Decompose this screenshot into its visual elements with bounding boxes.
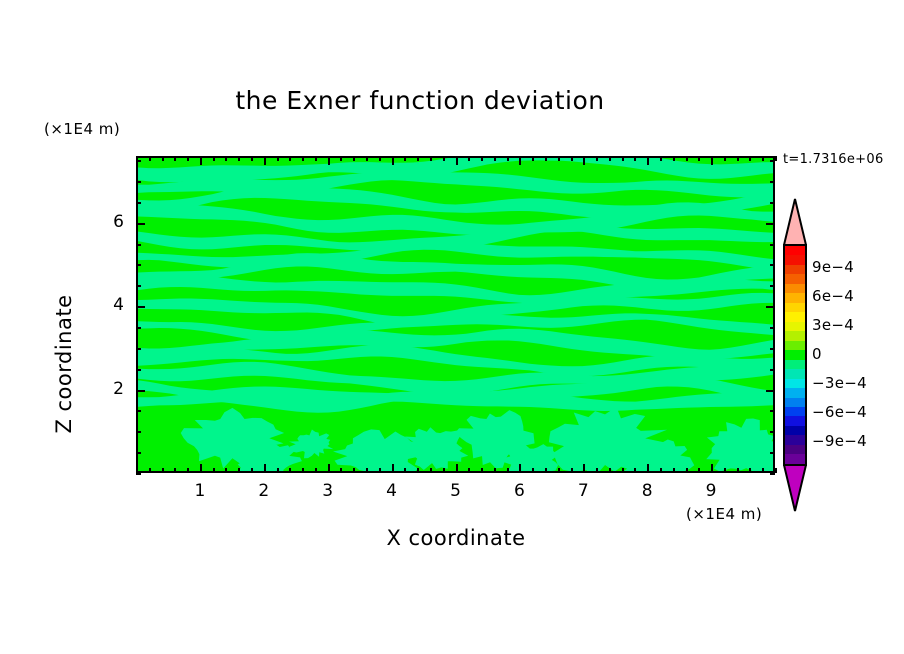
colorbar-under-arrow-icon [783,464,807,512]
colorbar-segment [785,322,805,331]
colorbar-segment [785,445,805,454]
x-tick-label: 5 [436,481,476,501]
colorbar-tick-label: 0 [812,345,822,363]
colorbar-tick-label: −9e−4 [812,432,867,450]
x-tick-label: 4 [372,481,412,501]
x-axis-unit-label: (×1E4 m) [686,505,762,523]
colorbar-tick-label: −6e−4 [812,403,867,421]
colorbar-tick-label: 3e−4 [812,316,854,334]
x-tick-label: 8 [627,481,667,501]
colorbar-over-arrow-icon [783,198,807,246]
colorbar-tick-label: 9e−4 [812,258,854,276]
y-tick-label: 6 [84,212,124,232]
time-annotation: t=1.7316e+06 [783,152,884,167]
colorbar-segments[interactable] [783,244,807,466]
page-title: the Exner function deviation [0,86,840,115]
colorbar-segment [785,407,805,416]
colorbar-segment [785,360,805,369]
colorbar[interactable]: 9e−46e−43e−40−3e−4−6e−4−9e−4 [778,198,814,514]
x-tick [775,156,777,161]
colorbar-segment [785,369,805,378]
y-tick-label: 4 [84,295,124,315]
colorbar-segment [785,331,805,340]
colorbar-segment [785,265,805,274]
colorbar-tick-label: −3e−4 [812,374,867,392]
colorbar-segment [785,303,805,312]
x-tick-label: 7 [563,481,603,501]
x-tick-label: 1 [180,481,220,501]
colorbar-segment [785,398,805,407]
y-tick [770,473,775,475]
colorbar-segment [785,274,805,283]
colorbar-segment [785,388,805,397]
colorbar-segment [785,379,805,388]
colorbar-segment [785,416,805,425]
colorbar-segment [785,435,805,444]
colorbar-segment [785,350,805,359]
colorbar-segment [785,426,805,435]
colorbar-segment [785,341,805,350]
contour-plot-area [136,156,775,473]
y-axis-title: Z coordinate [52,244,76,484]
colorbar-segment [785,293,805,302]
colorbar-segment [785,284,805,293]
colorbar-segment [785,246,805,255]
x-tick-label: 9 [691,481,731,501]
y-tick [136,473,141,475]
colorbar-segment [785,312,805,321]
x-tick-label: 6 [499,481,539,501]
colorbar-tick-label: 6e−4 [812,287,854,305]
x-axis-title: X coordinate [136,526,776,550]
colorbar-segment [785,454,805,463]
x-tick-label: 2 [244,481,284,501]
y-tick-label: 2 [84,379,124,399]
colorbar-segment [785,255,805,264]
x-tick-label: 3 [308,481,348,501]
y-axis-unit-label: (×1E4 m) [44,120,120,138]
x-tick [775,468,777,473]
contour-field [138,158,773,473]
